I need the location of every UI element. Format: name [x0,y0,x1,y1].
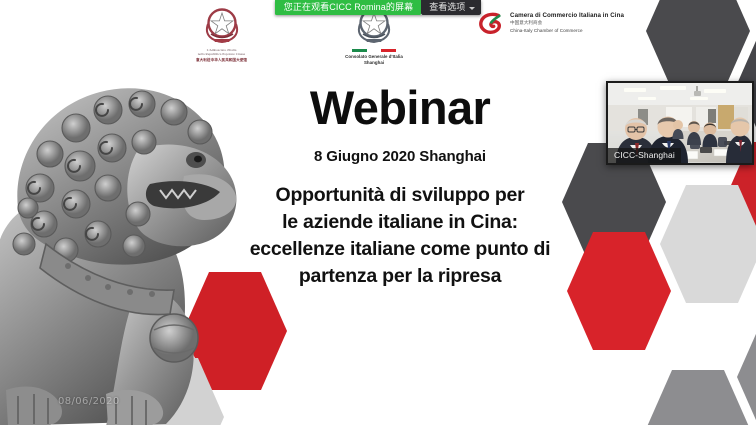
slide-subject-line-2: le aziende italiane in Cina: [196,209,604,236]
cicc-text-block: Camera di Commercio Italiana in Cina 中国意… [510,12,624,34]
logo-italian-embassy: L'Ambasciata d'Italia nella Repubblica P… [196,6,247,62]
shared-slide: 08/06/2020 L'Ambasciata d'Italia nella R [0,0,756,425]
italian-republic-emblem-icon [199,6,245,46]
hexagon-decor-light-1 [660,185,756,303]
zoom-screen-share-view: 08/06/2020 L'Ambasciata d'Italia nella R [0,0,756,425]
chevron-down-icon [469,7,475,10]
slide-text-column: Webinar 8 Giugno 2020 Shanghai Opportuni… [196,84,604,290]
slide-logo-row: L'Ambasciata d'Italia nella Repubblica P… [196,6,624,74]
participant-name-label: CICC-Shanghai [608,148,681,163]
slide-title: Webinar [196,84,604,131]
logo-china-italy-chamber: Camera di Commercio Italiana in Cina 中国意… [479,12,624,34]
consulate-caption-line1: Consolato Generale d'Italia [345,54,403,59]
slide-date-location: 8 Giugno 2020 Shanghai [196,148,604,165]
embassy-caption-chinese: 意大利驻中华人民共和国大使馆 [196,58,247,62]
slide-subject-line-1: Opportunità di sviluppo per [196,182,604,209]
consulate-caption-line2: Shanghai [364,60,384,65]
screen-share-notice: 您正在观看CICC Romina的屏幕 [275,0,421,15]
hexagon-decor-mid-2 [646,370,750,425]
cicc-name-en: China-Italy Chamber of Commerce [510,28,624,34]
participant-video-tile[interactable]: CICC-Shanghai [606,81,754,165]
view-options-label: 查看选项 [429,0,465,15]
cicc-name-cn: 中国意大利商会 [510,21,624,27]
embassy-caption-line2: nella Repubblica Popolare Cinese [198,52,245,56]
slide-subject: Opportunità di sviluppo per le aziende i… [196,182,604,290]
embassy-caption: L'Ambasciata d'Italia nella Repubblica P… [196,48,247,62]
cicc-name-it: Camera di Commercio Italiana in Cina [510,12,624,20]
hexagon-decor-dark-1 [646,0,750,90]
slide-subject-line-4: partenza per la ripresa [196,263,604,290]
italian-flag-icon [352,49,396,52]
cicc-swirl-logo-icon [479,12,505,34]
view-options-button[interactable]: 查看选项 [421,0,481,15]
slide-subject-line-3: eccellenze italiane come punto di [196,236,604,263]
logo-italian-consulate: Consolato Generale d'Italia Shanghai [345,6,403,67]
consulate-caption: Consolato Generale d'Italia Shanghai [345,54,403,67]
